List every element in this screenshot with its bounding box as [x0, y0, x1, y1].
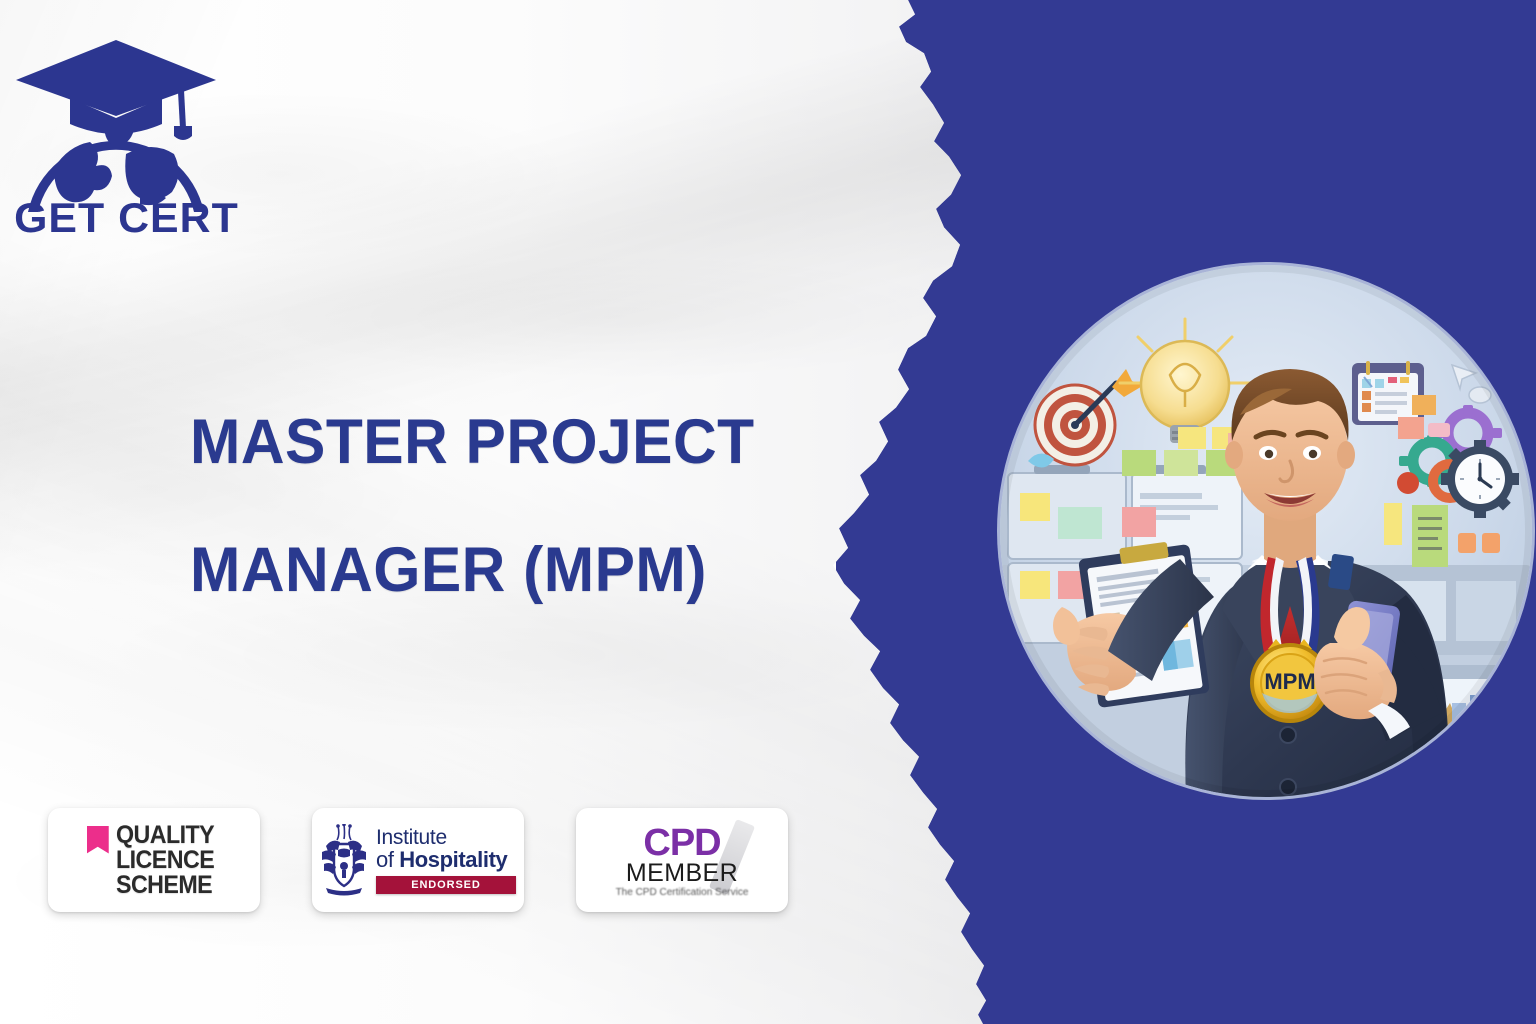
page-title: MASTER PROJECT MANAGER (MPM): [190, 378, 785, 634]
graduation-cap-globe-icon: GET CERTIFY: [8, 28, 238, 238]
cpd-member-label: MEMBER: [576, 860, 788, 886]
accreditation-badges: QUALITY LICENCE SCHEME: [48, 808, 788, 912]
ioh-line-2: of Hospitality: [376, 848, 516, 872]
badge-institute-of-hospitality[interactable]: Institute of Hospitality ENDORSED: [312, 808, 524, 912]
ioh-of: of: [376, 847, 399, 872]
qls-line-1: QUALITY: [116, 823, 214, 848]
badge-quality-licence-scheme[interactable]: QUALITY LICENCE SCHEME: [48, 808, 260, 912]
qls-line-2: LICENCE: [116, 848, 214, 873]
hero-illustration: MPM: [1000, 265, 1532, 797]
ioh-hospitality: Hospitality: [399, 847, 507, 872]
cpd-subtitle: The CPD Certification Service: [576, 887, 788, 898]
qls-wordmark: QUALITY LICENCE SCHEME: [116, 823, 214, 898]
cpd-mark: CPD: [576, 826, 788, 860]
badge-cpd-member[interactable]: CPD MEMBER The CPD Certification Service: [576, 808, 788, 912]
title-line-2: MANAGER (MPM): [190, 506, 785, 634]
calendar-board-icon: [1352, 361, 1424, 425]
qls-line-3: SCHEME: [116, 873, 214, 898]
ioh-endorsed-banner: ENDORSED: [376, 876, 516, 894]
logo-wordmark: GET CERTIFY: [14, 194, 238, 238]
title-line-1: MASTER PROJECT: [190, 407, 755, 477]
bookmark-ribbon-icon: [87, 826, 109, 854]
certified-project-manager-photo: MPM: [1000, 265, 1532, 797]
ioh-line-1: Institute: [376, 827, 516, 848]
medal-label: MPM: [1264, 669, 1315, 694]
heraldic-crest-icon: [320, 824, 368, 896]
get-certify-logo[interactable]: GET CERTIFY: [8, 28, 238, 238]
promo-banner: GET CERTIFY MASTER PROJECT MANAGER (MPM)…: [0, 0, 1536, 1024]
